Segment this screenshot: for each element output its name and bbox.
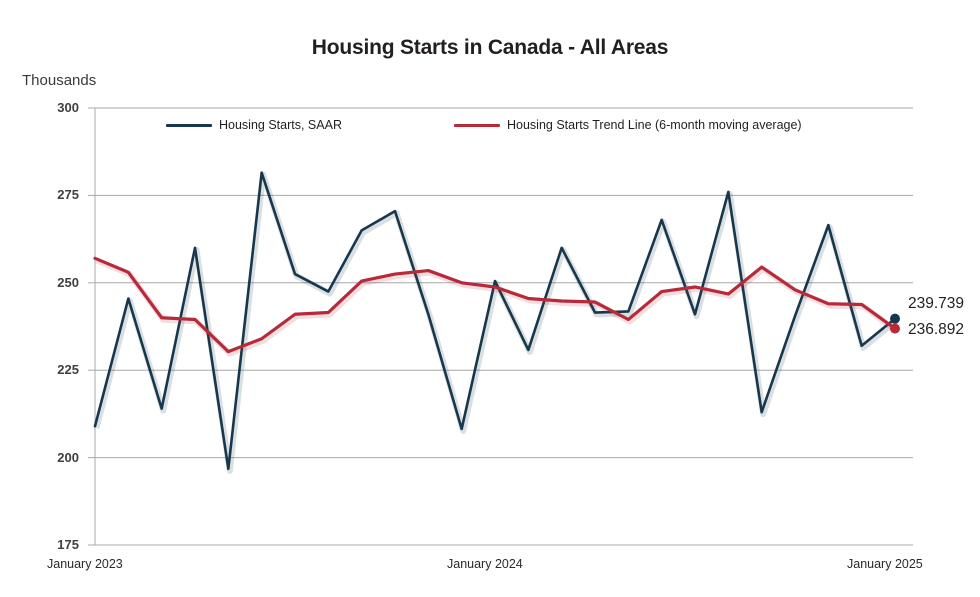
x-axis-tick-label: January 2024 (447, 557, 523, 571)
legend-color-swatch (166, 124, 212, 127)
series-line-saar (95, 173, 895, 469)
legend-label: Housing Starts Trend Line (6-month movin… (507, 118, 802, 132)
trend-end-marker-label: 236.892 (908, 321, 964, 339)
y-axis-tick-label: 275 (33, 187, 79, 202)
saar-end-marker (890, 314, 900, 324)
y-axis-tick-label: 175 (33, 537, 79, 552)
axis-tick-marks (88, 108, 95, 545)
y-axis-tick-label: 225 (33, 362, 79, 377)
y-axis-tick-label: 300 (33, 100, 79, 115)
y-axis-tick-label: 250 (33, 275, 79, 290)
trend-end-marker (890, 324, 900, 334)
series-line-trend (95, 258, 895, 351)
x-axis-tick-label: January 2025 (847, 557, 923, 571)
y-axis-tick-label: 200 (33, 450, 79, 465)
data-series (95, 173, 897, 471)
housing-starts-chart: Housing Starts in Canada - All Areas Tho… (0, 0, 980, 597)
legend-label: Housing Starts, SAAR (219, 118, 342, 132)
legend-color-swatch (454, 124, 500, 127)
x-axis-tick-label: January 2023 (47, 557, 123, 571)
series-line-shadow (97, 175, 897, 471)
legend-entry[interactable]: Housing Starts, SAAR (166, 118, 342, 132)
saar-end-marker-label: 239.739 (908, 295, 964, 313)
plot-area (0, 0, 980, 597)
legend-entry[interactable]: Housing Starts Trend Line (6-month movin… (454, 118, 802, 132)
